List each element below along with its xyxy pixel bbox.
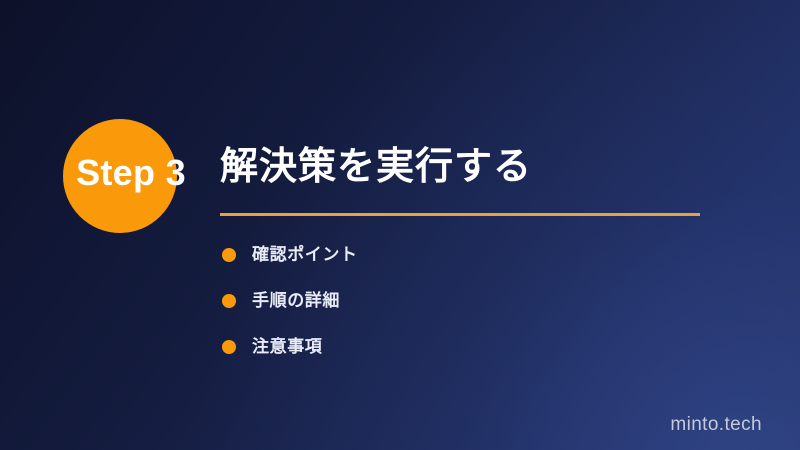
bullet-dot-icon <box>222 294 236 308</box>
list-item: 確認ポイント <box>222 232 702 278</box>
slide-title: 解決策を実行する <box>220 142 532 192</box>
list-item: 手順の詳細 <box>222 278 702 324</box>
step-badge-label: Step 3 <box>46 151 216 195</box>
list-item-label: 確認ポイント <box>252 244 358 266</box>
list-item-label: 手順の詳細 <box>252 290 340 312</box>
title-divider-rule <box>220 213 700 216</box>
bullet-list: 確認ポイント 手順の詳細 注意事項 <box>222 232 702 370</box>
bullet-dot-icon <box>222 340 236 354</box>
slide-canvas: Step 3 解決策を実行する 確認ポイント 手順の詳細 注意事項 minto.… <box>0 0 800 450</box>
bullet-dot-icon <box>222 248 236 262</box>
list-item: 注意事項 <box>222 324 702 370</box>
watermark-label: minto.tech <box>670 413 762 437</box>
list-item-label: 注意事項 <box>252 336 322 358</box>
